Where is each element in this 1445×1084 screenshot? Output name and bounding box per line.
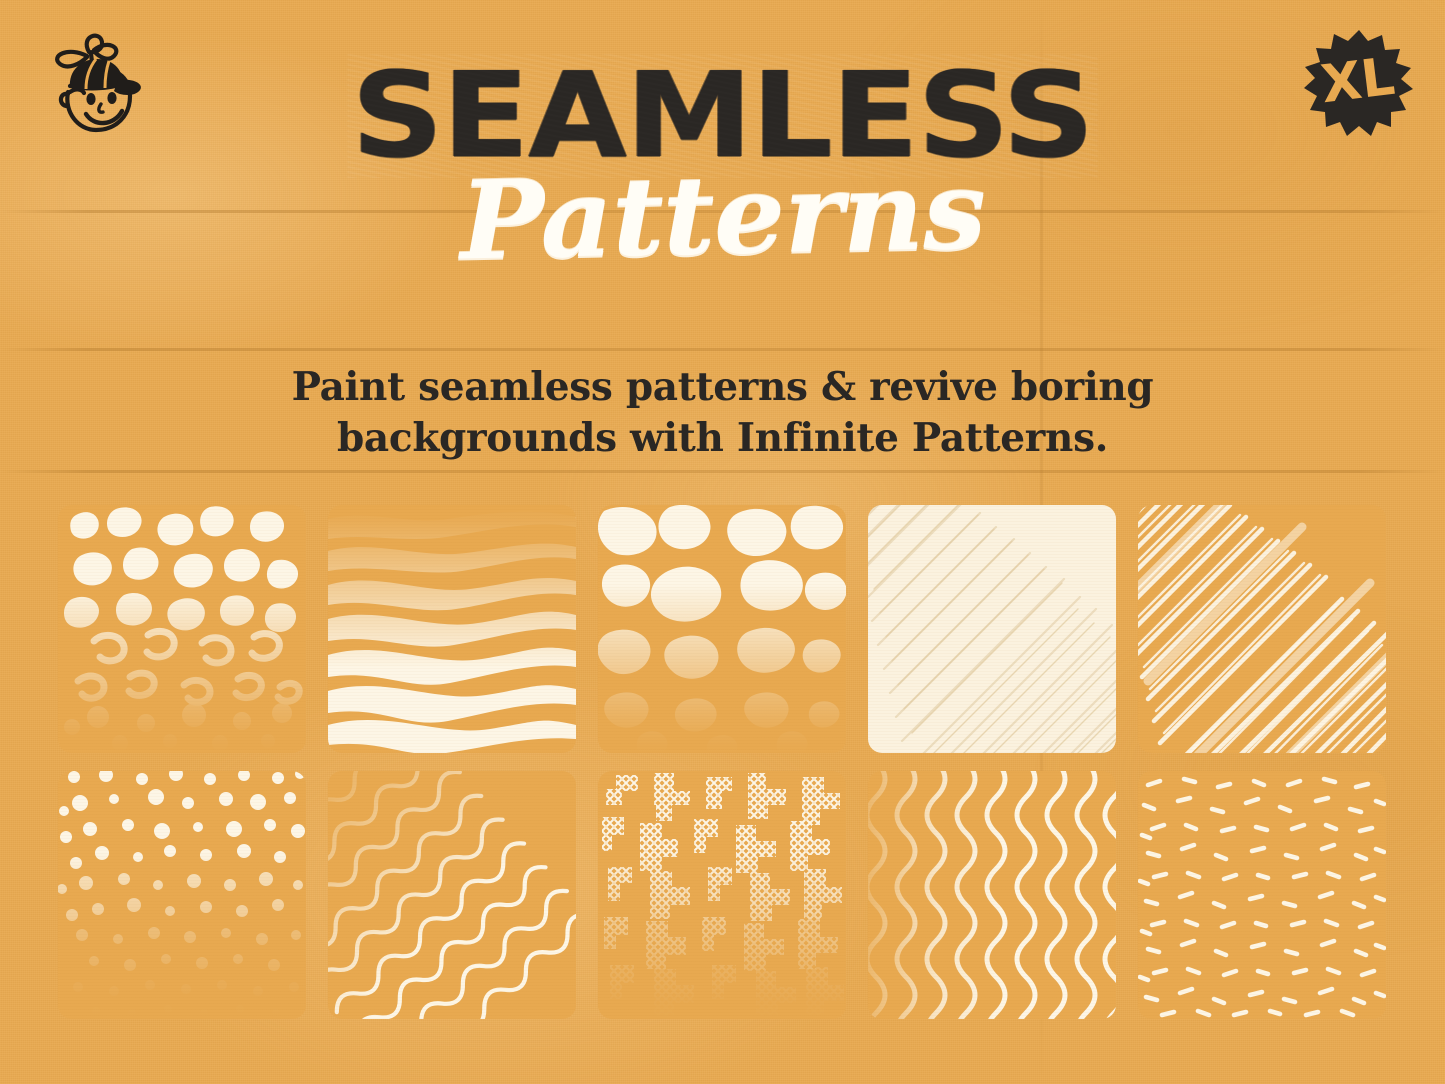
tagline-line-2: backgrounds with Infinite Patterns. bbox=[0, 413, 1445, 464]
swatch-cow-blobs[interactable] bbox=[598, 505, 846, 753]
headline-block: SEAMLESS Patterns bbox=[0, 58, 1445, 270]
paper-crease-line bbox=[0, 470, 1445, 473]
swatch-wavy-diagonal[interactable] bbox=[328, 771, 576, 1019]
swatch-dense-hatch[interactable] bbox=[868, 505, 1116, 753]
swatch-polka-dots[interactable] bbox=[58, 771, 306, 1019]
swatch-dashes[interactable] bbox=[1138, 771, 1386, 1019]
swatch-cross-stitch[interactable] bbox=[598, 771, 846, 1019]
swatch-tiger-stripes[interactable] bbox=[328, 505, 576, 753]
paper-crease-line bbox=[0, 348, 1445, 351]
poster-canvas: XL SEAMLESS Patterns Paint seamless patt… bbox=[0, 0, 1445, 1084]
tagline: Paint seamless patterns & revive boring … bbox=[0, 362, 1445, 465]
pattern-swatch-grid bbox=[58, 505, 1388, 1019]
swatch-leopard-spots[interactable] bbox=[58, 505, 306, 753]
swatch-wavy-vertical[interactable] bbox=[868, 771, 1116, 1019]
page-subtitle-script: Patterns bbox=[0, 146, 1445, 285]
tagline-line-1: Paint seamless patterns & revive boring bbox=[0, 362, 1445, 413]
swatch-scribble-hatch[interactable] bbox=[1138, 505, 1386, 753]
